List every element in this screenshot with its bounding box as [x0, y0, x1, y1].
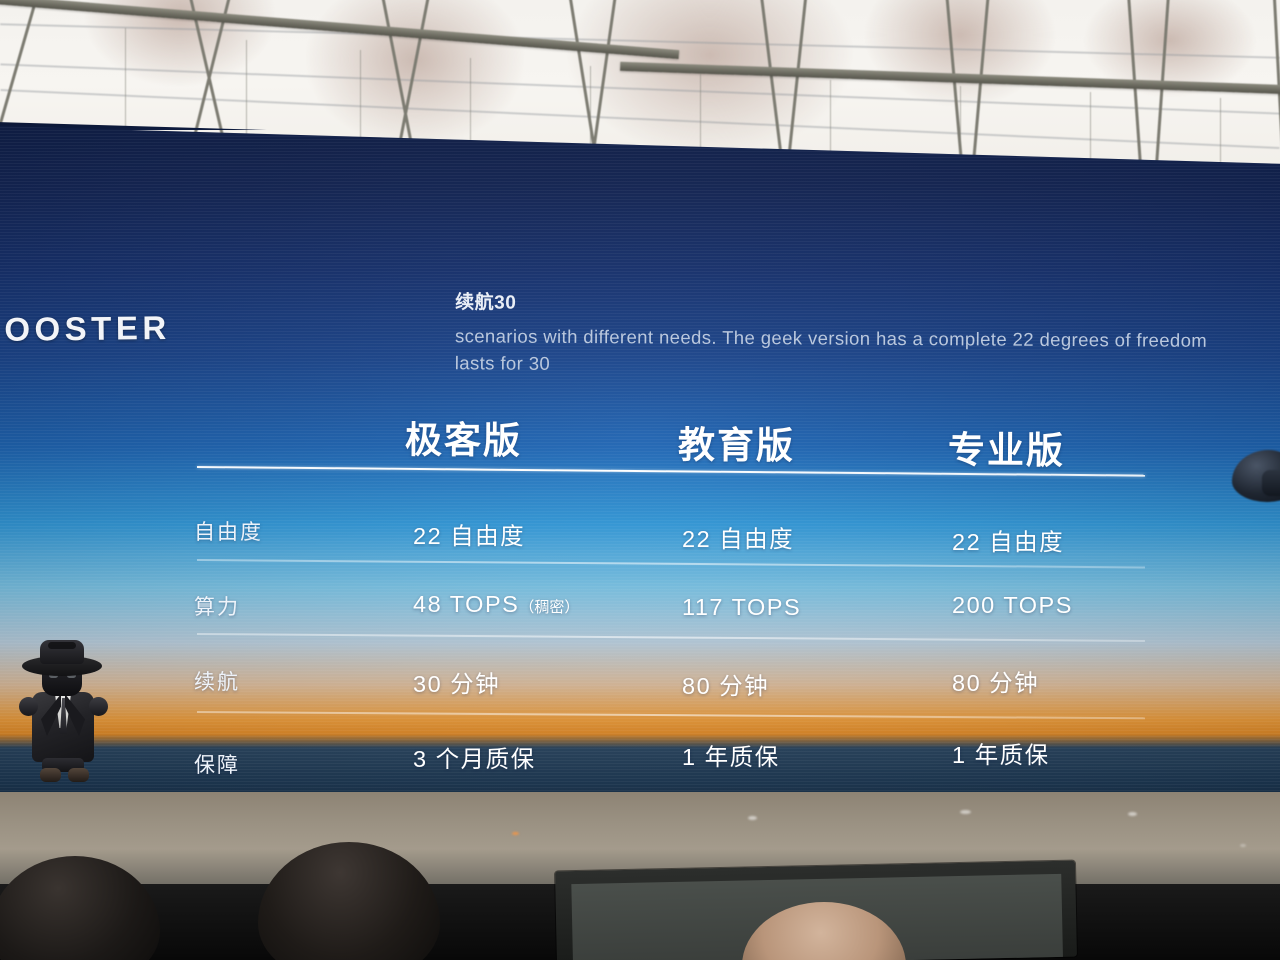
table-cell-dof-professional: 22 自由度: [952, 523, 1064, 557]
table-column-header-geek: 极客版: [405, 410, 522, 465]
table-cell-compute-geek-note: （稠密）: [519, 599, 579, 616]
table-cell-dof-geek: 22 自由度: [413, 517, 525, 551]
table-row-rule-2: [197, 633, 1145, 642]
table-cell-compute-professional: 200 TOPS: [952, 592, 1073, 619]
presentation-photo: BOOSTER 续航30 scenarios with different ne…: [0, 0, 1280, 960]
robot-forearm-icon: [1262, 470, 1280, 496]
table-row-label-compute: 算力: [194, 591, 240, 621]
table-cell-warranty-professional: 1 年质保: [952, 736, 1050, 770]
table-column-header-professional: 专业版: [948, 420, 1065, 475]
table-cell-warranty-geek: 3 个月质保: [413, 740, 536, 774]
table-row-rule-1: [197, 559, 1145, 568]
spec-comparison-table: 极客版 教育版 专业版 自由度 22 自由度 22 自由度 22 自由度 算力 …: [0, 118, 1274, 818]
table-row-rule-3: [197, 711, 1145, 719]
table-row-label-warranty: 保障: [194, 749, 240, 779]
table-row-label-dof: 自由度: [194, 516, 263, 546]
table-cell-compute-geek-value: 48 TOPS: [413, 591, 519, 617]
table-row-label-battery: 续航: [194, 666, 240, 696]
table-cell-warranty-education: 1 年质保: [682, 738, 780, 772]
table-cell-dof-education: 22 自由度: [682, 520, 794, 554]
table-column-header-education: 教育版: [678, 415, 795, 470]
table-cell-battery-geek: 30 分钟: [413, 665, 500, 699]
table-cell-compute-education: 117 TOPS: [682, 594, 801, 621]
led-presentation-screen: BOOSTER 续航30 scenarios with different ne…: [0, 118, 1280, 818]
table-cell-compute-geek: 48 TOPS（稠密）: [413, 591, 579, 618]
table-cell-battery-professional: 80 分钟: [952, 664, 1039, 698]
table-cell-battery-education: 80 分钟: [682, 667, 769, 701]
